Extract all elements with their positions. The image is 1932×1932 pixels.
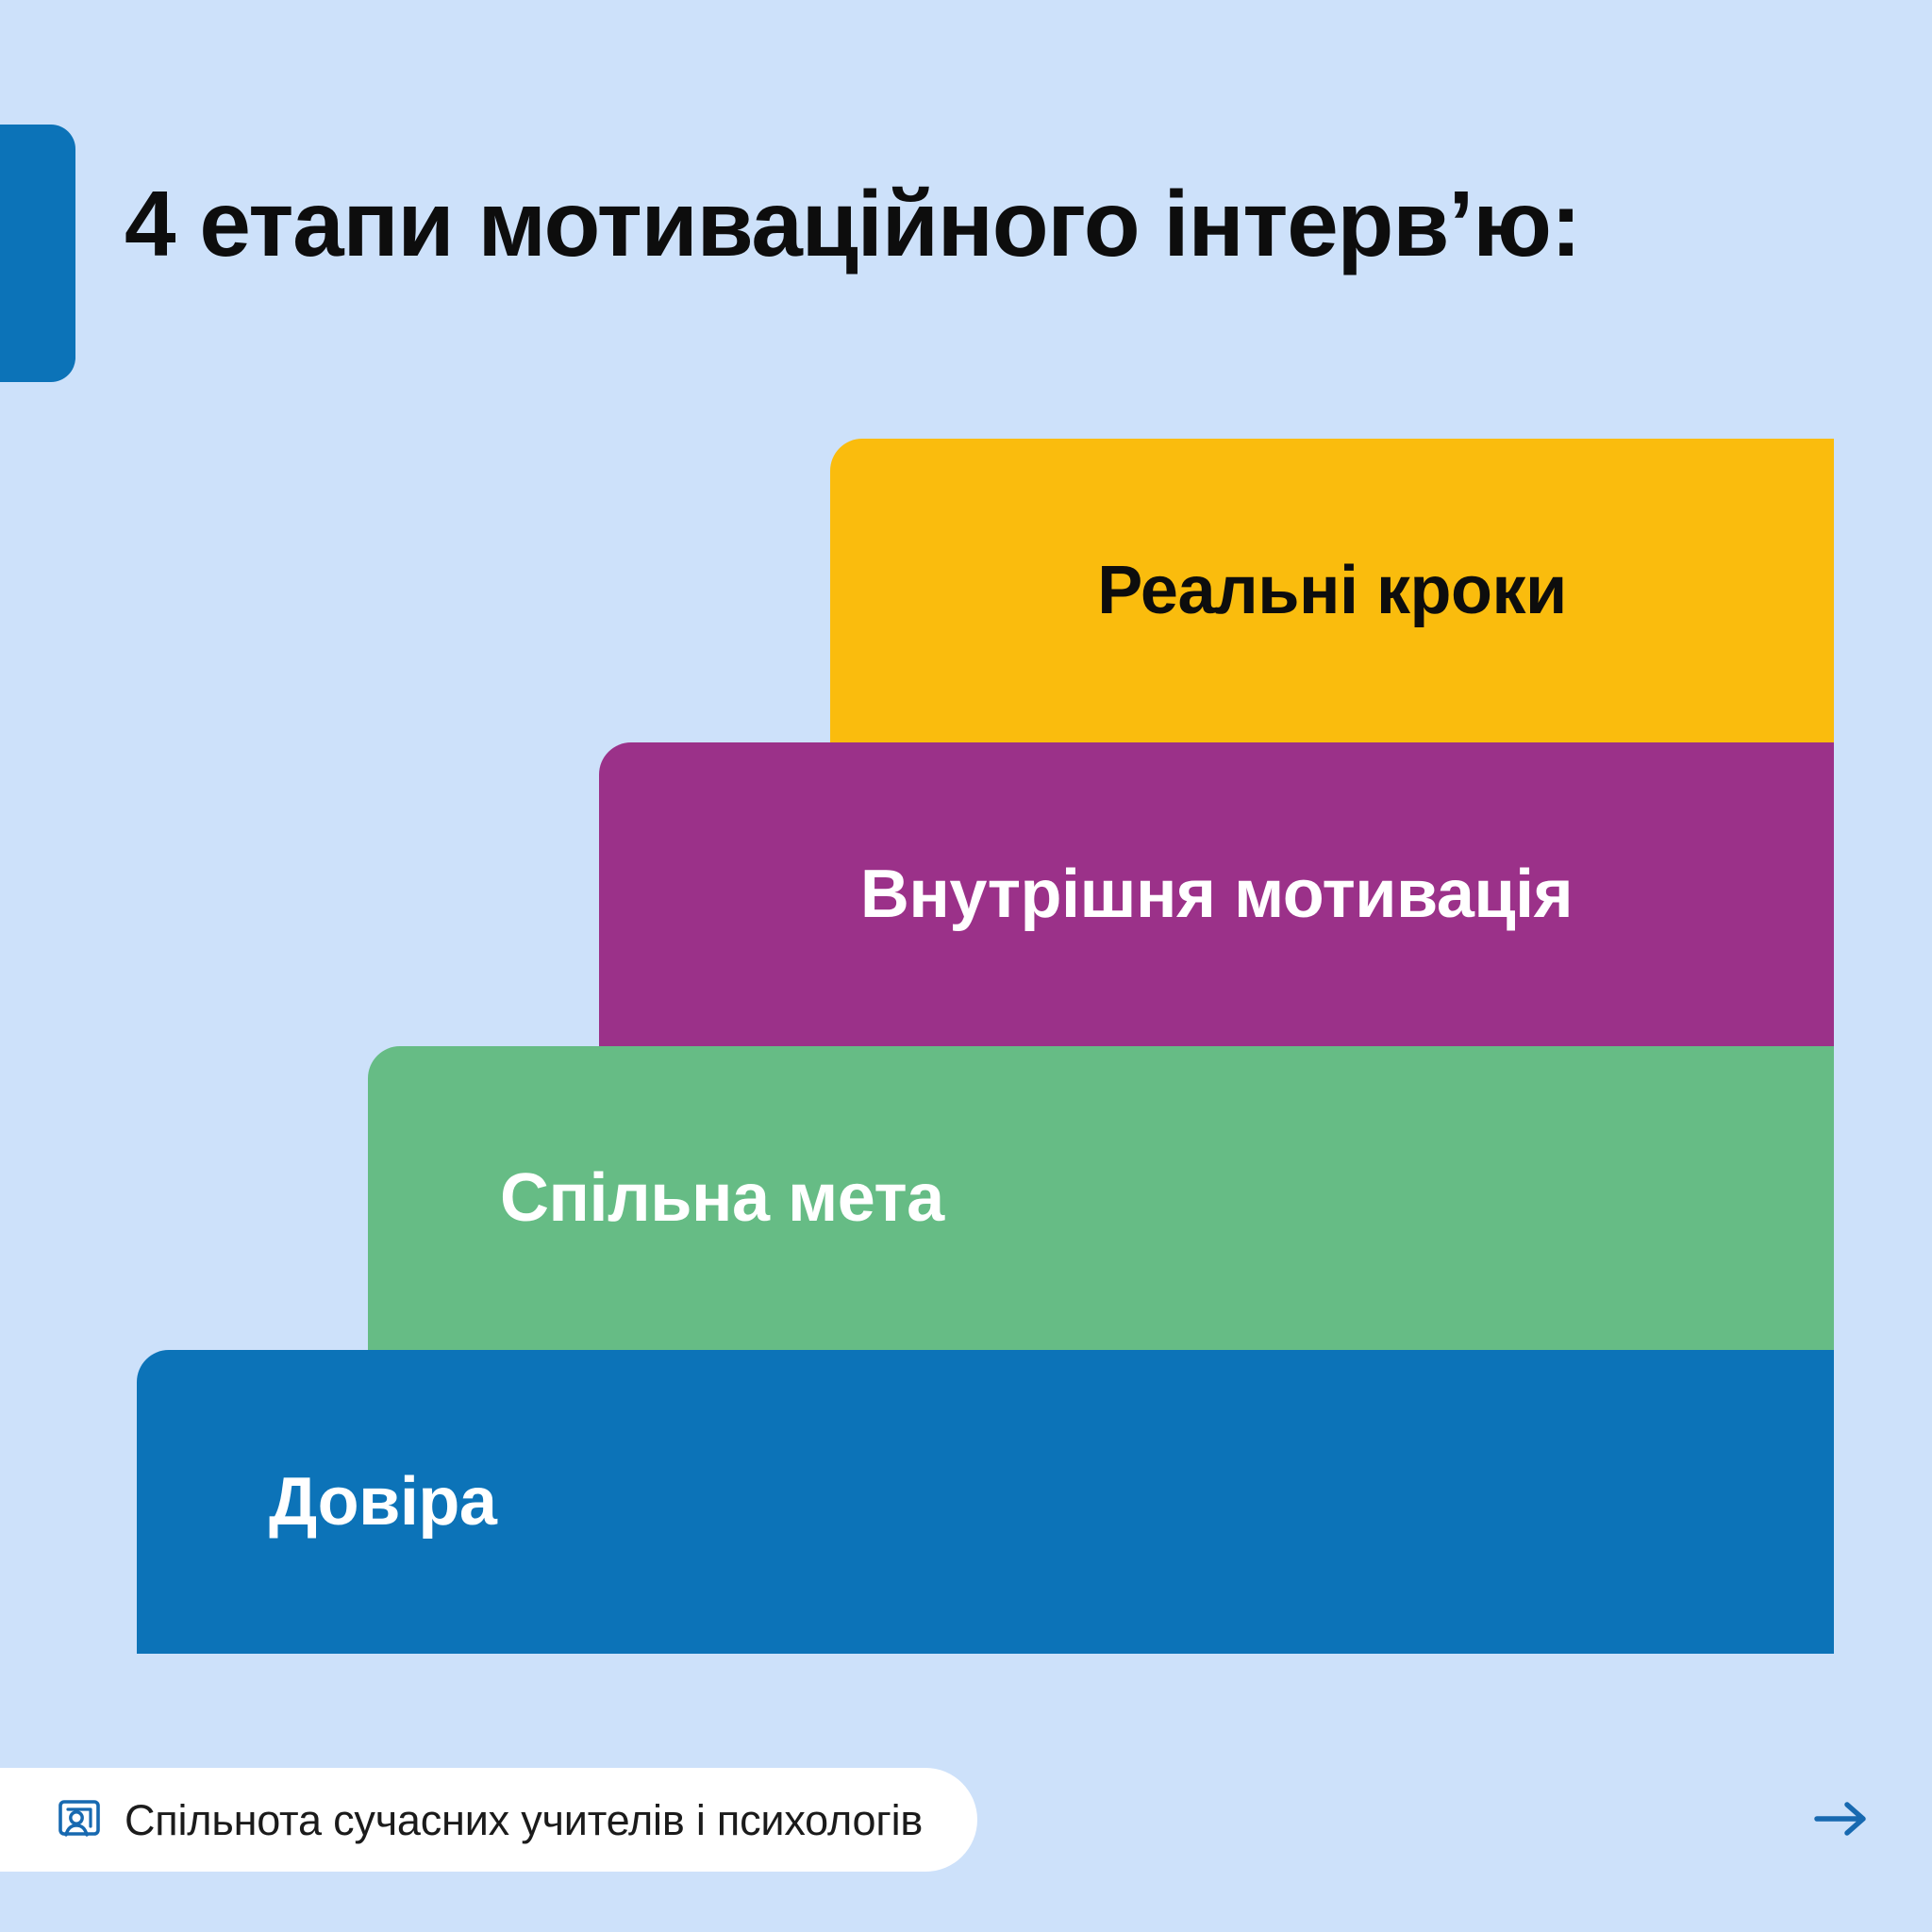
staircase-step-label: Внутрішня мотивація	[860, 860, 1573, 928]
slide-canvas: 4 етапи мотиваційного інтерв’ю: Реальні …	[0, 0, 1932, 1932]
staircase-step-common-goal: Спільна мета	[368, 1046, 1834, 1350]
staircase-diagram: Реальні кроки Внутрішня мотивація Спільн…	[0, 0, 1932, 1932]
brand-text: Спільнота сучасних учителів і психологів	[125, 1799, 923, 1841]
staircase-step-label: Довіра	[269, 1468, 496, 1536]
brand-pill[interactable]: Спільнота сучасних учителів і психологів	[0, 1768, 977, 1872]
staircase-step-label: Спільна мета	[500, 1164, 944, 1232]
staircase-step-inner-motivation: Внутрішня мотивація	[599, 742, 1834, 1046]
community-board-icon	[57, 1797, 102, 1842]
footer-bar: Спільнота сучасних учителів і психологів	[0, 1768, 1932, 1872]
staircase-step-trust: Довіра	[137, 1350, 1834, 1654]
staircase-step-label: Реальні кроки	[1097, 557, 1567, 625]
staircase-step-real-steps: Реальні кроки	[830, 439, 1834, 742]
arrow-right-icon[interactable]	[1811, 1792, 1872, 1845]
